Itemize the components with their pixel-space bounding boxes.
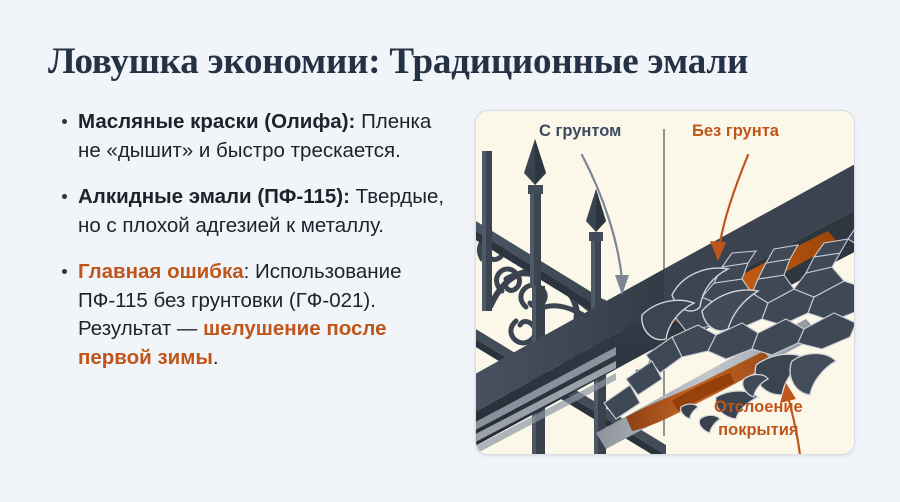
list-item: Главная ошибка: Использование ПФ-115 без… bbox=[62, 258, 452, 372]
bullet-list: Масляные краски (Олифа): Пленка не «дыши… bbox=[62, 108, 452, 372]
label-without-primer: Без грунта bbox=[692, 122, 779, 141]
label-with-primer: С грунтом bbox=[539, 122, 621, 141]
page-title: Ловушка экономии: Традиционные эмали bbox=[48, 40, 868, 83]
slide-root: Ловушка экономии: Традиционные эмали Мас… bbox=[0, 0, 900, 502]
bullet-dot-icon bbox=[62, 269, 67, 274]
label-peeling: Отслоение покрытия bbox=[714, 396, 803, 442]
bullet-lead-1: Масляные краски (Олифа): bbox=[78, 110, 355, 133]
list-item: Масляные краски (Олифа): Пленка не «дыши… bbox=[62, 108, 452, 165]
bullet-text-1: Масляные краски (Олифа): Пленка не «дыши… bbox=[78, 108, 452, 165]
bullet-tail-3: . bbox=[213, 346, 219, 369]
bullet-text-3: Главная ошибка: Использование ПФ-115 без… bbox=[78, 258, 452, 372]
label-peeling-line1: Отслоение bbox=[714, 396, 803, 419]
label-peeling-line2: покрытия bbox=[714, 419, 803, 442]
bullet-dot-icon bbox=[62, 194, 67, 199]
bullet-lead-3-accent: Главная ошибка bbox=[78, 260, 244, 283]
bullet-dot-icon bbox=[62, 119, 67, 124]
bullet-lead-2: Алкидные эмали (ПФ-115): bbox=[78, 185, 350, 208]
list-item: Алкидные эмали (ПФ-115): Твердые, но с п… bbox=[62, 183, 452, 240]
bullet-text-2: Алкидные эмали (ПФ-115): Твердые, но с п… bbox=[78, 183, 452, 240]
